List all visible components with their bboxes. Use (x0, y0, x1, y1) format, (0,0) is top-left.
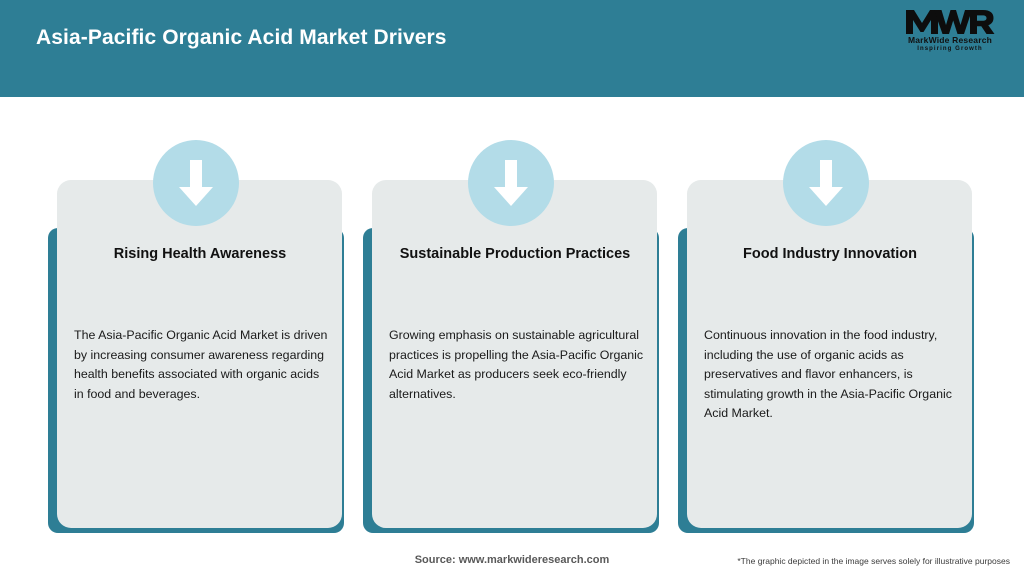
arrow-down-icon (153, 140, 239, 226)
driver-card[interactable]: Rising Health Awareness The Asia-Pacific… (48, 140, 344, 540)
card-title: Food Industry Innovation (704, 244, 956, 265)
arrow-down-icon (783, 140, 869, 226)
page-title: Asia-Pacific Organic Acid Market Drivers (36, 26, 447, 50)
card-body-text: Growing emphasis on sustainable agricult… (389, 326, 645, 404)
company-logo: MarkWide Research Inspiring Growth (894, 8, 1006, 60)
disclaimer-note: *The graphic depicted in the image serve… (737, 556, 1010, 566)
driver-card[interactable]: Food Industry Innovation Continuous inno… (678, 140, 974, 540)
logo-mark-icon (894, 8, 1006, 35)
card-title: Sustainable Production Practices (389, 244, 641, 265)
header-bar: Asia-Pacific Organic Acid Market Drivers… (0, 0, 1024, 97)
logo-company-name: MarkWide Research (894, 35, 1006, 45)
driver-card[interactable]: Sustainable Production Practices Growing… (363, 140, 659, 540)
driver-cards-row: Rising Health Awareness The Asia-Pacific… (0, 140, 1024, 540)
arrow-down-icon (468, 140, 554, 226)
card-title: Rising Health Awareness (74, 244, 326, 265)
logo-tagline: Inspiring Growth (894, 45, 1006, 54)
card-body-text: Continuous innovation in the food indust… (704, 326, 960, 424)
card-body-text: The Asia-Pacific Organic Acid Market is … (74, 326, 330, 404)
